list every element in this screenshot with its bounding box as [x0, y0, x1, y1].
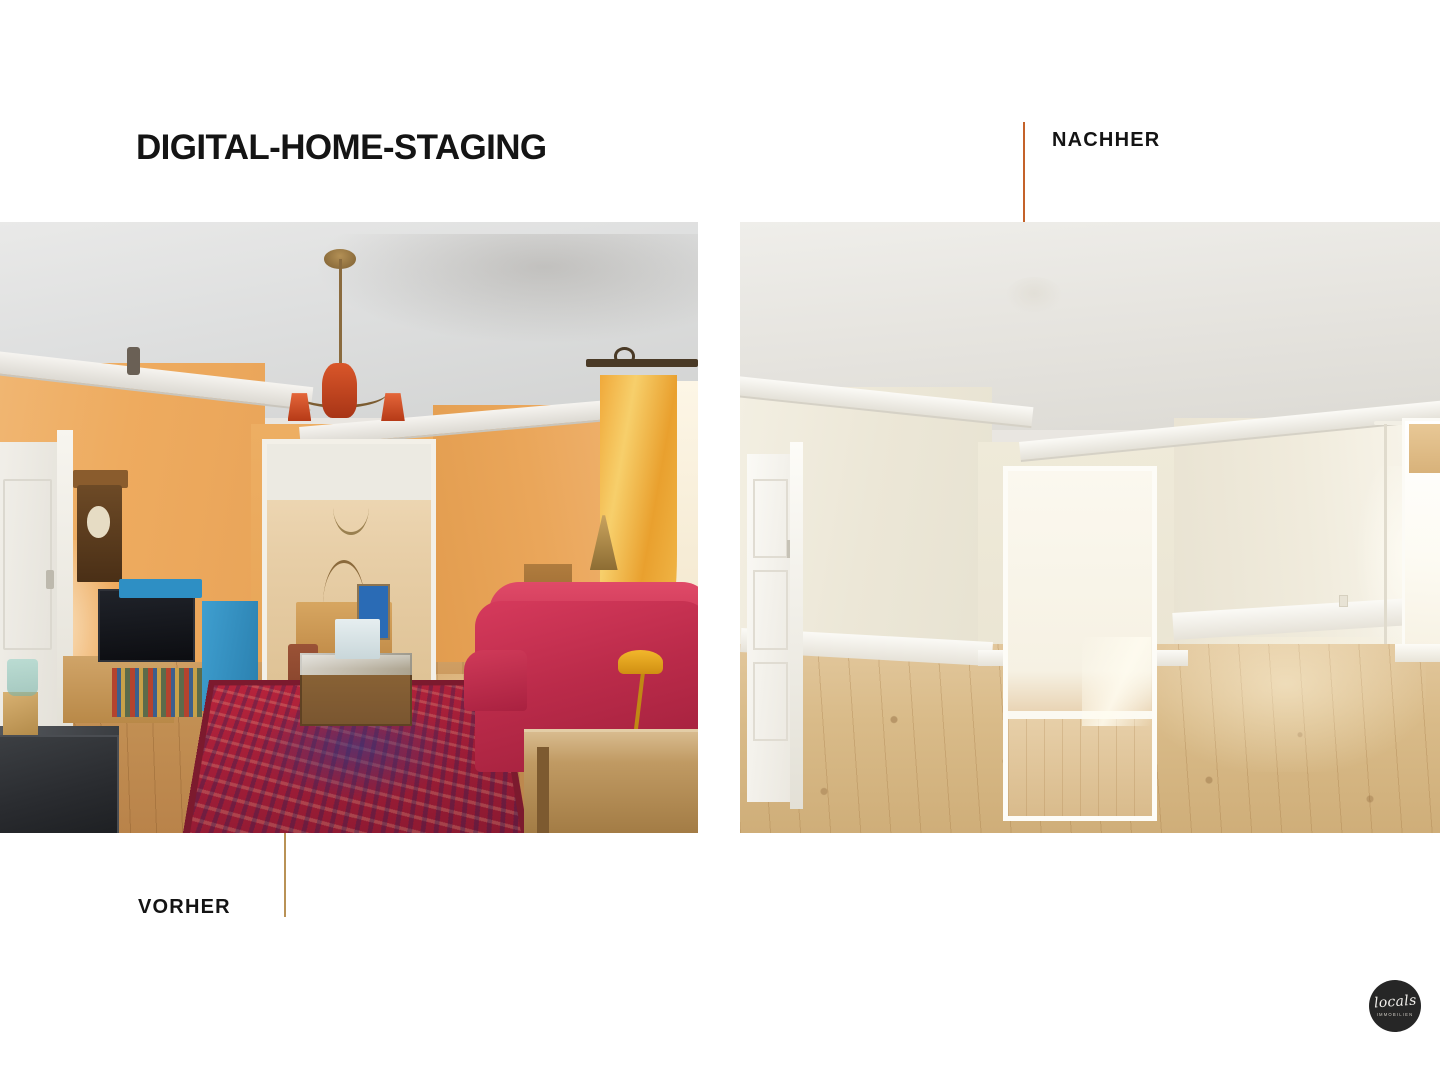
- after-door-panel-top: [753, 479, 788, 558]
- before-wall-clock-face: [87, 506, 111, 538]
- after-window-sill: [1395, 644, 1440, 662]
- before-ceiling-shadow: [314, 234, 698, 344]
- connector-line-vorher: [284, 833, 286, 917]
- before-glass-vase: [7, 659, 38, 696]
- after-curtain-cord: [1384, 424, 1387, 644]
- before-bookshelf-books: [112, 668, 203, 717]
- before-door-panel: [3, 479, 52, 650]
- before-sofa-armrest: [464, 650, 527, 711]
- before-stone-hearth: [0, 735, 119, 833]
- after-door-frame: [790, 442, 803, 809]
- after-floor-sunlight: [1146, 637, 1426, 771]
- after-wall-outlet: [1339, 595, 1349, 607]
- before-side-table-leg: [537, 747, 548, 833]
- after-window-blind: [1409, 424, 1440, 473]
- before-curtain-finial: [614, 347, 635, 365]
- before-floor-lamp-shade: [618, 650, 663, 674]
- before-side-table: [524, 729, 699, 833]
- before-wood-block: [3, 692, 38, 735]
- logo-subtitle: IMMOBILIEN: [1377, 1012, 1414, 1017]
- after-doorway-opening: [1003, 466, 1157, 820]
- logo-wordmark: locals: [1373, 994, 1416, 1011]
- after-adjacent-floor: [1008, 719, 1152, 815]
- after-door-panel-middle: [753, 570, 788, 649]
- photo-after: [740, 222, 1440, 833]
- after-ceiling-rose: [1006, 277, 1062, 314]
- before-adjacent-chandelier: [333, 479, 369, 535]
- label-nachher: NACHHER: [1052, 129, 1160, 152]
- before-television: [98, 589, 196, 662]
- before-curtain-rod: [586, 359, 698, 366]
- after-adjacent-sunbeam: [1082, 637, 1151, 727]
- label-vorher: VORHER: [138, 896, 231, 919]
- photo-before: [0, 222, 698, 833]
- page-title: DIGITAL-HOME-STAGING: [136, 128, 547, 168]
- before-ceiling-spotlight: [127, 347, 140, 374]
- before-table-candles: [335, 619, 380, 659]
- after-door-panel-bottom: [753, 662, 788, 741]
- brand-logo[interactable]: locals IMMOBILIEN: [1369, 980, 1421, 1032]
- before-blue-tray: [119, 579, 203, 597]
- before-chandelier-body: [322, 363, 357, 418]
- before-door-handle: [46, 570, 54, 588]
- poster-canvas: DIGITAL-HOME-STAGING NACHHER VORHER: [0, 0, 1440, 1080]
